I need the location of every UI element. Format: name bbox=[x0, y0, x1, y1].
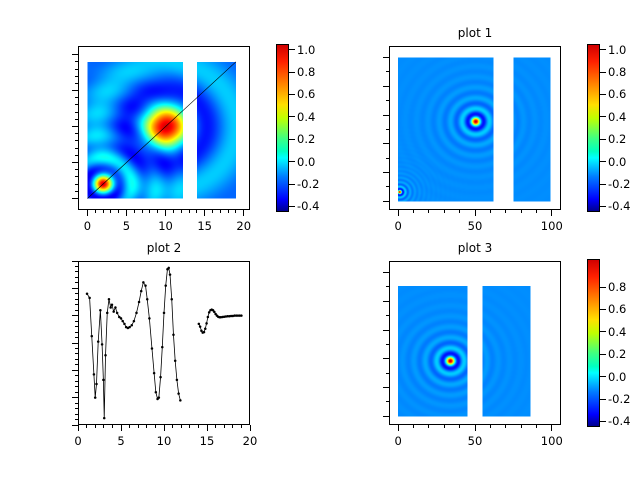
axis-tick bbox=[386, 172, 389, 173]
axis-tick bbox=[142, 210, 143, 213]
axis-tick bbox=[134, 210, 135, 213]
axis-tick bbox=[75, 140, 78, 141]
axis-tick bbox=[95, 210, 96, 213]
colorbar-tick-label: 0.2 bbox=[608, 347, 626, 361]
axis-tick bbox=[75, 353, 78, 354]
axis-tick bbox=[398, 210, 399, 213]
axis-tick bbox=[505, 210, 506, 213]
axis-tick bbox=[129, 425, 130, 428]
axis-tick bbox=[75, 392, 78, 393]
axis-tick bbox=[386, 86, 389, 87]
axis-tick bbox=[86, 425, 87, 428]
axis-tick bbox=[289, 161, 295, 162]
axis-tick bbox=[386, 100, 389, 101]
colorbar-tick-label: -0.2 bbox=[608, 392, 630, 406]
axis-tick bbox=[75, 198, 78, 199]
x-tick-label: 10 bbox=[158, 219, 173, 233]
axis-tick bbox=[386, 387, 389, 388]
axis-tick bbox=[386, 315, 389, 316]
axis-tick bbox=[235, 210, 236, 213]
axis-tick bbox=[75, 148, 78, 149]
axis-tick bbox=[600, 116, 606, 117]
axis-tick bbox=[75, 112, 78, 113]
axis-tick bbox=[228, 210, 229, 213]
axis-tick bbox=[75, 126, 78, 127]
axis-tick bbox=[386, 201, 389, 202]
axis-tick bbox=[75, 348, 78, 349]
axis-tick bbox=[386, 344, 389, 345]
axis-tick bbox=[600, 376, 606, 377]
x-tick-label: 0 bbox=[84, 219, 91, 233]
axis-tick bbox=[600, 399, 606, 400]
axis-tick bbox=[600, 354, 606, 355]
axis-tick bbox=[428, 425, 429, 428]
axis-tick bbox=[75, 271, 78, 272]
axis-tick bbox=[75, 288, 78, 289]
axis-tick bbox=[75, 169, 78, 170]
colorbar-bottom-right bbox=[587, 259, 600, 427]
colorbar-top-right bbox=[587, 44, 600, 212]
axis-tick bbox=[536, 425, 537, 428]
axis-tick bbox=[386, 115, 389, 116]
axis-tick bbox=[386, 358, 389, 359]
axis-tick bbox=[172, 425, 173, 428]
colorbar-tick-label: 0.4 bbox=[608, 110, 626, 124]
line-series-plot-2 bbox=[78, 261, 250, 425]
axis-tick bbox=[215, 425, 216, 428]
axis-tick bbox=[444, 425, 445, 428]
axis-tick bbox=[75, 76, 78, 77]
axis-tick bbox=[289, 72, 295, 73]
colorbar-tick-label: 0.8 bbox=[608, 280, 626, 294]
x-tick-label: 0 bbox=[74, 434, 81, 448]
x-tick-label: 5 bbox=[123, 219, 130, 233]
colorbar-tick-label: 0.0 bbox=[608, 155, 626, 169]
colorbar-tick-label: -0.4 bbox=[608, 199, 630, 213]
axis-tick bbox=[289, 49, 295, 50]
axis-tick bbox=[521, 210, 522, 213]
axis-tick bbox=[75, 299, 78, 300]
axis-tick bbox=[75, 61, 78, 62]
axis-tick bbox=[232, 425, 233, 428]
subplot-title-plot-1: plot 1 bbox=[458, 26, 492, 40]
axis-tick bbox=[75, 282, 78, 283]
colorbar-tick-label: -0.4 bbox=[297, 199, 319, 213]
x-tick-label: 0 bbox=[395, 219, 402, 233]
axis-tick bbox=[386, 416, 389, 417]
colorbar-tick-label: 1.0 bbox=[608, 43, 626, 57]
axis-tick bbox=[75, 191, 78, 192]
axis-tick bbox=[386, 186, 389, 187]
axis-tick bbox=[386, 286, 389, 287]
axis-tick bbox=[198, 425, 199, 428]
axis-tick bbox=[75, 315, 78, 316]
axis-tick bbox=[75, 321, 78, 322]
x-tick-label: 50 bbox=[468, 219, 483, 233]
colorbar-tick-label: 0.8 bbox=[608, 65, 626, 79]
axis-tick bbox=[103, 425, 104, 428]
x-tick-label: 15 bbox=[197, 219, 212, 233]
axis-tick bbox=[138, 425, 139, 428]
axis-tick bbox=[181, 210, 182, 213]
figure-canvas: 0510152005101520 1.00.80.60.40.20.0-0.2-… bbox=[0, 0, 640, 480]
x-tick-label: 20 bbox=[236, 219, 251, 233]
axis-tick bbox=[386, 373, 389, 374]
axis-tick bbox=[75, 54, 78, 55]
axis-tick bbox=[75, 425, 78, 426]
axis-tick bbox=[224, 425, 225, 428]
axis-tick bbox=[444, 210, 445, 213]
x-tick-label: 10 bbox=[157, 434, 172, 448]
axis-tick bbox=[75, 83, 78, 84]
axis-tick bbox=[428, 210, 429, 213]
axis-tick bbox=[75, 176, 78, 177]
axis-tick bbox=[386, 129, 389, 130]
axis-tick bbox=[459, 210, 460, 213]
axis-tick bbox=[600, 49, 606, 50]
axis-tick bbox=[189, 210, 190, 213]
colorbar-tick-label: 0.0 bbox=[608, 370, 626, 384]
axis-tick bbox=[75, 419, 78, 420]
colorbar-tick-label: 0.6 bbox=[608, 87, 626, 101]
colorbar-tick-label: 0.4 bbox=[608, 325, 626, 339]
axis-tick bbox=[413, 425, 414, 428]
axis-tick bbox=[241, 425, 242, 428]
axis-tick bbox=[181, 425, 182, 428]
axis-tick bbox=[75, 90, 78, 91]
colorbar-tick-label: -0.4 bbox=[608, 414, 630, 428]
axis-tick bbox=[75, 155, 78, 156]
x-tick-label: 100 bbox=[541, 434, 563, 448]
axis-tick bbox=[386, 71, 389, 72]
axis-tick bbox=[75, 304, 78, 305]
axis-tick bbox=[126, 210, 127, 213]
colorbar-tick-label: -0.2 bbox=[608, 177, 630, 191]
colorbar-tick-label: -0.2 bbox=[297, 177, 319, 191]
axis-tick bbox=[212, 210, 213, 213]
axis-tick bbox=[386, 330, 389, 331]
axis-tick bbox=[110, 210, 111, 213]
axis-tick bbox=[72, 261, 78, 262]
axis-tick bbox=[490, 210, 491, 213]
axis-tick bbox=[75, 370, 78, 371]
colorbar-tick-label: 1.0 bbox=[297, 43, 315, 57]
axis-tick bbox=[600, 72, 606, 73]
axis-tick bbox=[75, 326, 78, 327]
heatmap-image-bottom-right bbox=[389, 261, 561, 425]
axis-tick bbox=[75, 184, 78, 185]
colorbar-tick-label: 0.8 bbox=[297, 65, 315, 79]
axis-tick bbox=[207, 425, 208, 428]
axis-tick bbox=[204, 210, 205, 213]
axis-tick bbox=[75, 414, 78, 415]
axis-tick bbox=[289, 139, 295, 140]
axis-tick bbox=[75, 337, 78, 338]
axis-tick bbox=[386, 272, 389, 273]
axis-tick bbox=[164, 425, 165, 428]
axis-tick bbox=[551, 425, 552, 428]
axis-tick bbox=[536, 210, 537, 213]
axis-tick bbox=[521, 425, 522, 428]
axis-tick bbox=[600, 184, 606, 185]
axis-tick bbox=[386, 158, 389, 159]
axis-tick bbox=[75, 310, 78, 311]
axis-tick bbox=[75, 162, 78, 163]
axis-tick bbox=[146, 425, 147, 428]
axis-tick bbox=[386, 301, 389, 302]
axis-tick bbox=[75, 359, 78, 360]
axis-tick bbox=[289, 206, 295, 207]
axis-tick bbox=[157, 210, 158, 213]
colorbar-tick-label: 0.6 bbox=[297, 87, 315, 101]
axis-tick bbox=[386, 57, 389, 58]
axis-tick bbox=[600, 94, 606, 95]
axis-tick bbox=[87, 210, 88, 213]
axis-tick bbox=[600, 287, 606, 288]
axis-tick bbox=[600, 139, 606, 140]
colorbar-tick-label: 0.0 bbox=[297, 155, 315, 169]
axis-tick bbox=[490, 425, 491, 428]
axis-tick bbox=[173, 210, 174, 213]
axis-tick bbox=[289, 94, 295, 95]
axis-tick bbox=[75, 69, 78, 70]
axis-tick bbox=[75, 375, 78, 376]
axis-tick bbox=[189, 425, 190, 428]
axis-tick bbox=[75, 133, 78, 134]
axis-tick bbox=[155, 425, 156, 428]
heatmap-image-top-right bbox=[389, 46, 561, 210]
axis-tick bbox=[118, 210, 119, 213]
axis-tick bbox=[289, 116, 295, 117]
heatmap-image-top-left bbox=[78, 46, 250, 210]
x-tick-label: 20 bbox=[243, 434, 258, 448]
x-tick-label: 100 bbox=[541, 219, 563, 233]
axis-tick bbox=[75, 381, 78, 382]
colorbar-tick-label: 0.2 bbox=[608, 132, 626, 146]
colorbar-top-left bbox=[276, 44, 289, 212]
axis-tick bbox=[475, 425, 476, 428]
axis-tick bbox=[75, 104, 78, 105]
x-tick-label: 5 bbox=[117, 434, 124, 448]
axis-tick bbox=[220, 210, 221, 213]
subplot-title-plot-3: plot 3 bbox=[458, 241, 492, 255]
axis-tick bbox=[75, 403, 78, 404]
subplot-title-plot-2: plot 2 bbox=[147, 241, 181, 255]
axis-tick bbox=[600, 161, 606, 162]
axis-tick bbox=[75, 408, 78, 409]
axis-tick bbox=[505, 425, 506, 428]
colorbar-tick-label: 0.6 bbox=[608, 302, 626, 316]
axis-tick bbox=[103, 210, 104, 213]
axis-tick bbox=[413, 210, 414, 213]
axis-tick bbox=[600, 206, 606, 207]
axis-tick bbox=[75, 293, 78, 294]
axis-tick bbox=[75, 364, 78, 365]
colorbar-tick-label: 0.2 bbox=[297, 132, 315, 146]
axis-tick bbox=[75, 266, 78, 267]
colorbar-tick-label: 0.4 bbox=[297, 110, 315, 124]
x-tick-label: 15 bbox=[200, 434, 215, 448]
axis-tick bbox=[196, 210, 197, 213]
axis-tick bbox=[600, 331, 606, 332]
axis-tick bbox=[386, 143, 389, 144]
axis-tick bbox=[600, 309, 606, 310]
x-tick-label: 0 bbox=[395, 434, 402, 448]
axis-tick bbox=[75, 332, 78, 333]
axis-tick bbox=[289, 184, 295, 185]
axis-tick bbox=[250, 425, 251, 428]
axis-tick bbox=[75, 277, 78, 278]
axis-tick bbox=[398, 425, 399, 428]
axis-tick bbox=[121, 425, 122, 428]
axis-tick bbox=[386, 401, 389, 402]
axis-tick bbox=[600, 421, 606, 422]
axis-tick bbox=[112, 425, 113, 428]
axis-tick bbox=[75, 97, 78, 98]
axis-tick bbox=[165, 210, 166, 213]
axis-tick bbox=[75, 386, 78, 387]
axis-tick bbox=[75, 119, 78, 120]
axis-tick bbox=[75, 343, 78, 344]
axis-tick bbox=[459, 425, 460, 428]
x-tick-label: 50 bbox=[468, 434, 483, 448]
axis-tick bbox=[243, 210, 244, 213]
axis-tick bbox=[149, 210, 150, 213]
axis-tick bbox=[75, 397, 78, 398]
axis-tick bbox=[551, 210, 552, 213]
axis-tick bbox=[95, 425, 96, 428]
axis-tick bbox=[475, 210, 476, 213]
